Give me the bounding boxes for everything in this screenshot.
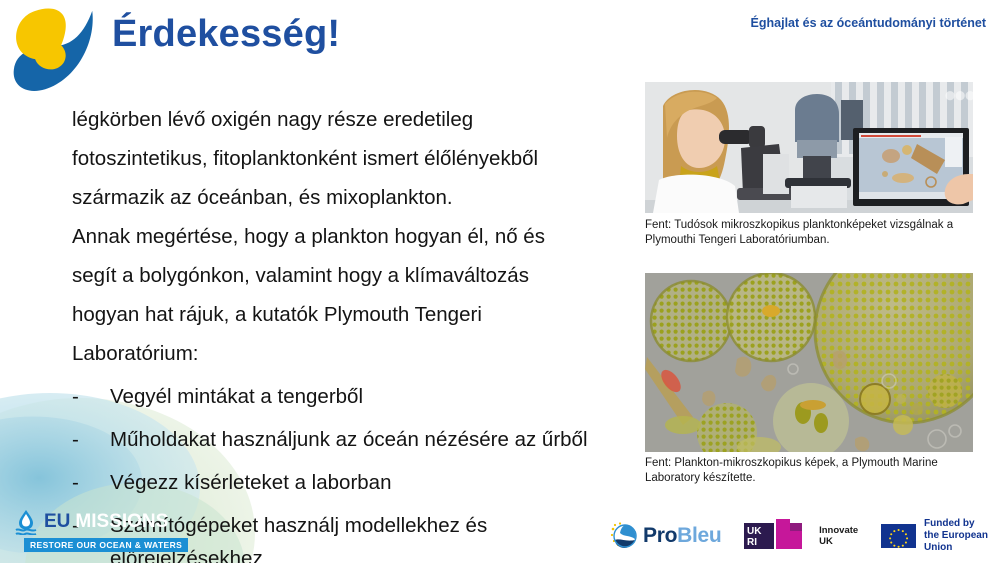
list-item: - Végezz kísérleteket a laborban xyxy=(72,466,652,499)
paragraph-line: Laboratórium: xyxy=(72,334,632,373)
water-drop-waves-icon xyxy=(14,509,38,535)
probleu-logo: ProBleu xyxy=(608,521,721,551)
ukri-innovate-uk-logo: UK RI Innovate UK xyxy=(744,519,858,553)
list-item: - Műholdakat használjunk az óceán nézésé… xyxy=(72,423,652,456)
list-item-label: Végezz kísérleteket a laborban xyxy=(110,466,391,499)
scientist-at-microscope-photo: ⬤⬤⬤ xyxy=(645,82,973,213)
paragraph-line: segít a bolygónkon, valamint hogy a klím… xyxy=(72,256,632,295)
slide-canvas: Érdekesség! Éghajlat és az óceántudomány… xyxy=(0,0,1000,563)
paragraph-line: hogyan hat rájuk, a kutatók Plymouth Ten… xyxy=(72,295,632,334)
running-header: Éghajlat és az óceántudományi történet xyxy=(751,16,986,30)
list-item-label: Vegyél mintákat a tengerből xyxy=(110,380,363,413)
bullet-marker: - xyxy=(72,380,110,413)
probleu-pro: Pro xyxy=(643,524,677,547)
photo-caption: Fent: Plankton-mikroszkopikus képek, a P… xyxy=(645,456,985,485)
paragraph-line: fotoszintetikus, fitoplanktonként ismert… xyxy=(72,139,632,178)
eu-funding-logo: Funded by the European Union xyxy=(881,518,1000,554)
list-item: - Vegyél mintákat a tengerből xyxy=(72,380,652,413)
svg-text:⬤⬤⬤: ⬤⬤⬤ xyxy=(945,90,973,101)
page-title: Érdekesség! xyxy=(112,13,340,56)
innovate-line2: UK xyxy=(819,536,858,548)
paragraph-line: légkörben lévő oxigén nagy része eredeti… xyxy=(72,100,632,139)
footer-logo-strip: ProBleu UK RI Innovate UK xyxy=(608,518,1000,554)
plankton-microscopy-photo xyxy=(645,273,973,452)
svg-text:RI: RI xyxy=(747,537,757,548)
eu-flag-icon xyxy=(881,521,916,551)
svg-text:UK: UK xyxy=(747,526,762,537)
paragraph-line: Annak megértése, hogy a plankton hogyan … xyxy=(72,217,632,256)
innovate-line1: Innovate xyxy=(819,525,858,537)
eu-missions-logo: EU MISSIONS RESTORE OUR OCEAN & WATERS xyxy=(14,508,229,554)
innovate-uk-wordmark: Innovate UK xyxy=(819,525,858,548)
eu-funding-wordmark: Funded by the European Union xyxy=(924,518,1000,554)
eu-missions-eu: EU xyxy=(44,511,70,533)
eu-line1: Funded by xyxy=(924,518,1000,530)
probleu-bleu: Bleu xyxy=(677,524,721,547)
bullet-marker: - xyxy=(72,466,110,499)
eu-line2: the European Union xyxy=(924,530,1000,554)
leaf-droplet-logo xyxy=(6,2,104,102)
list-item-label: Műholdakat használjunk az óceán nézésére… xyxy=(110,423,588,456)
probleu-wordmark: ProBleu xyxy=(643,524,721,548)
ukri-mark-icon: UK RI xyxy=(744,519,812,553)
photo-caption: Fent: Tudósok mikroszkopikus planktonkép… xyxy=(645,218,985,247)
eu-missions-missions: MISSIONS xyxy=(75,511,168,533)
probleu-globe-icon xyxy=(608,521,638,551)
paragraph-line: származik az óceánban, és mixoplankton. xyxy=(72,178,632,217)
photo-illustration: ⬤⬤⬤ xyxy=(645,82,973,213)
eu-missions-tagline: RESTORE OUR OCEAN & WATERS xyxy=(24,538,188,552)
photo-illustration xyxy=(645,273,973,452)
body-paragraph: légkörben lévő oxigén nagy része eredeti… xyxy=(72,100,632,373)
bullet-marker: - xyxy=(72,423,110,456)
